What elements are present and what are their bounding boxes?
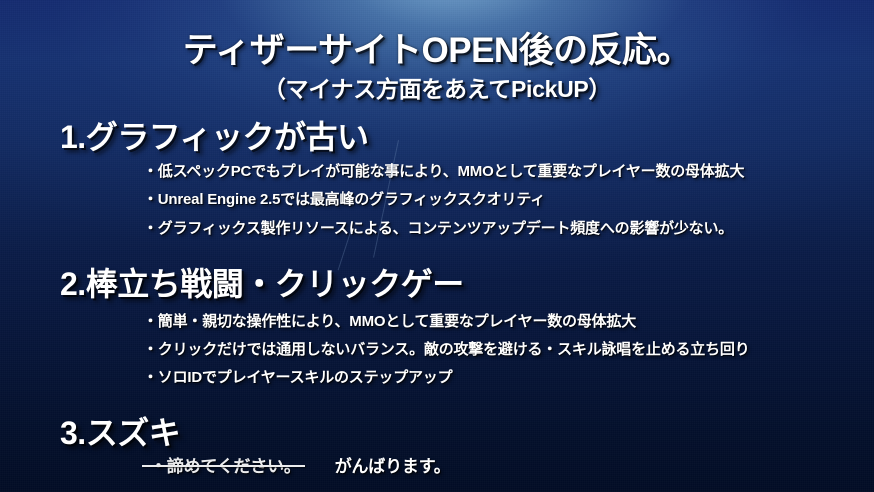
section-1-bullet-1: ・低スペックPCでもプレイが可能な事により、MMOとして重要なプレイヤー数の母体… [143,160,744,181]
slide-subtitle: （マイナス方面をあえてPickUP） [0,70,874,104]
section-heading-3: 3.スズキ [60,408,180,454]
section-2-bullet-1: ・簡単・親切な操作性により、MMOとして重要なプレイヤー数の母体拡大 [143,310,636,331]
section-1-bullet-3: ・グラフィックス製作リソースによる、コンテンツアップデート頻度への影響が少ない。 [143,217,733,238]
section-2-bullet-3: ・ソロIDでプレイヤースキルのステップアップ [143,366,452,387]
section-heading-2: 2.棒立ち戦闘・クリックゲー [60,259,464,305]
struck-text: ・諦めてください。 [150,452,301,477]
section-1-bullet-2: ・Unreal Engine 2.5では最高峰のグラフィックスクオリティ [143,188,545,209]
section-3-final-line: ・諦めてください。がんばります。 [150,452,451,477]
section-2-bullet-2: ・クリックだけでは通用しないバランス。敵の攻撃を避ける・スキル詠唱を止める立ち回… [143,338,750,359]
section-heading-1: 1.グラフィックが古い [60,112,369,158]
presentation-slide: ティザーサイトOPEN後の反応。 （マイナス方面をあえてPickUP） 1.グラ… [0,0,874,492]
replacement-text: がんばります。 [335,457,451,476]
slide-title: ティザーサイトOPEN後の反応。 [0,22,874,73]
